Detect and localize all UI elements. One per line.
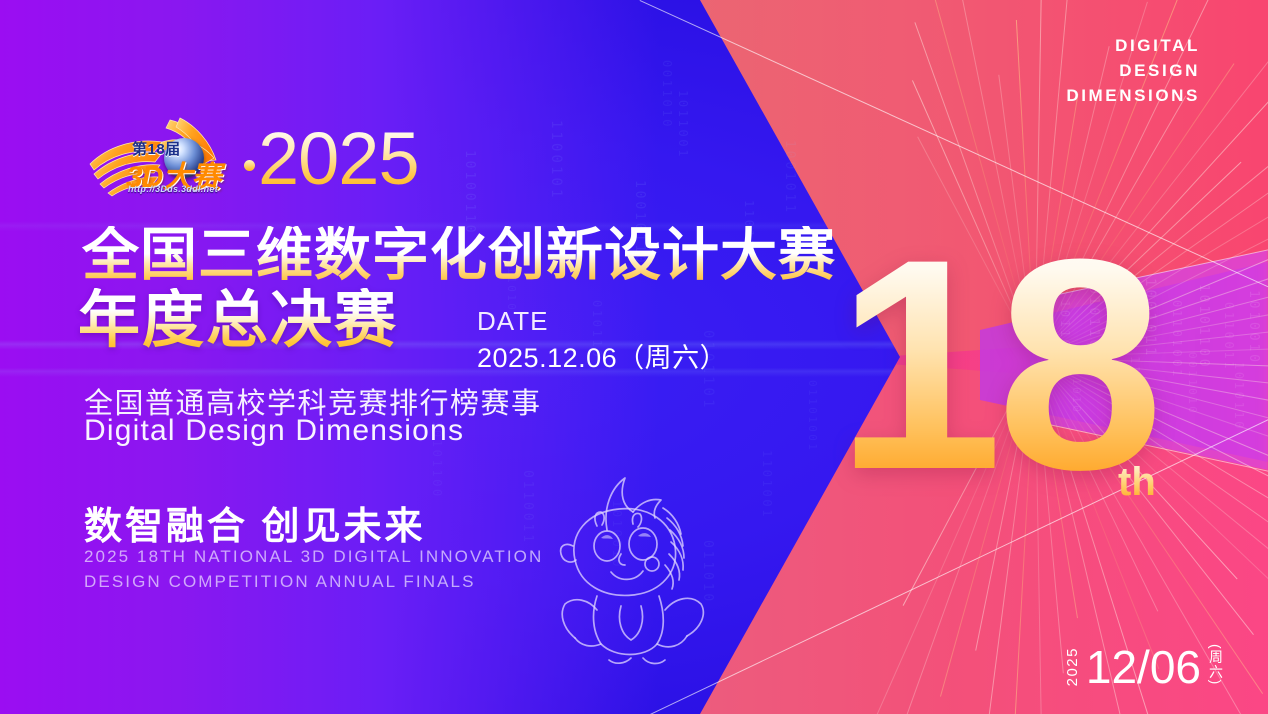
dragon-mascot bbox=[545, 468, 730, 668]
poster-canvas: 1010011001011010110010101011010010110101… bbox=[0, 0, 1268, 714]
bottom-date-year: 2025 bbox=[1064, 647, 1081, 686]
bottom-date-weekday: (周六) bbox=[1206, 644, 1226, 685]
date-value: 2025.12.06（周六） bbox=[477, 336, 727, 375]
competition-logo[interactable]: 第18届 3D大赛 http://3Dds.3ddl.net bbox=[84, 112, 254, 204]
corner-word-line-3: DIMENSIONS bbox=[1066, 83, 1200, 108]
organization-en: Digital Design Dimensions bbox=[84, 414, 464, 448]
anniversary-number: 18 bbox=[836, 214, 1158, 514]
corner-words: DIGITAL DESIGN DIMENSIONS bbox=[1066, 33, 1200, 108]
year-separator-dot bbox=[244, 160, 255, 171]
bottom-date-month-day: 12/06 bbox=[1086, 646, 1201, 690]
year-heading: 2025 bbox=[258, 122, 419, 196]
slogan-en-line-1: 2025 18TH NATIONAL 3D DIGITAL INNOVATION bbox=[84, 545, 543, 570]
logo-url: http://3Dds.3ddl.net bbox=[128, 184, 218, 194]
bottom-date-block: 2025 12/06 (周六) bbox=[1064, 644, 1226, 690]
page-title: 全国三维数字化创新设计大赛 bbox=[82, 226, 836, 286]
slogan-en-line-2: DESIGN COMPETITION ANNUAL FINALS bbox=[84, 570, 543, 595]
slogan-en: 2025 18TH NATIONAL 3D DIGITAL INNOVATION… bbox=[84, 545, 543, 594]
page-subtitle: 年度总决赛 bbox=[78, 288, 398, 353]
anniversary-suffix: th bbox=[1118, 462, 1156, 502]
date-label: DATE bbox=[477, 306, 548, 337]
slogan-cn: 数智融合 创见未来 bbox=[84, 495, 426, 550]
corner-word-line-1: DIGITAL bbox=[1066, 33, 1200, 58]
corner-word-line-2: DESIGN bbox=[1066, 58, 1200, 83]
